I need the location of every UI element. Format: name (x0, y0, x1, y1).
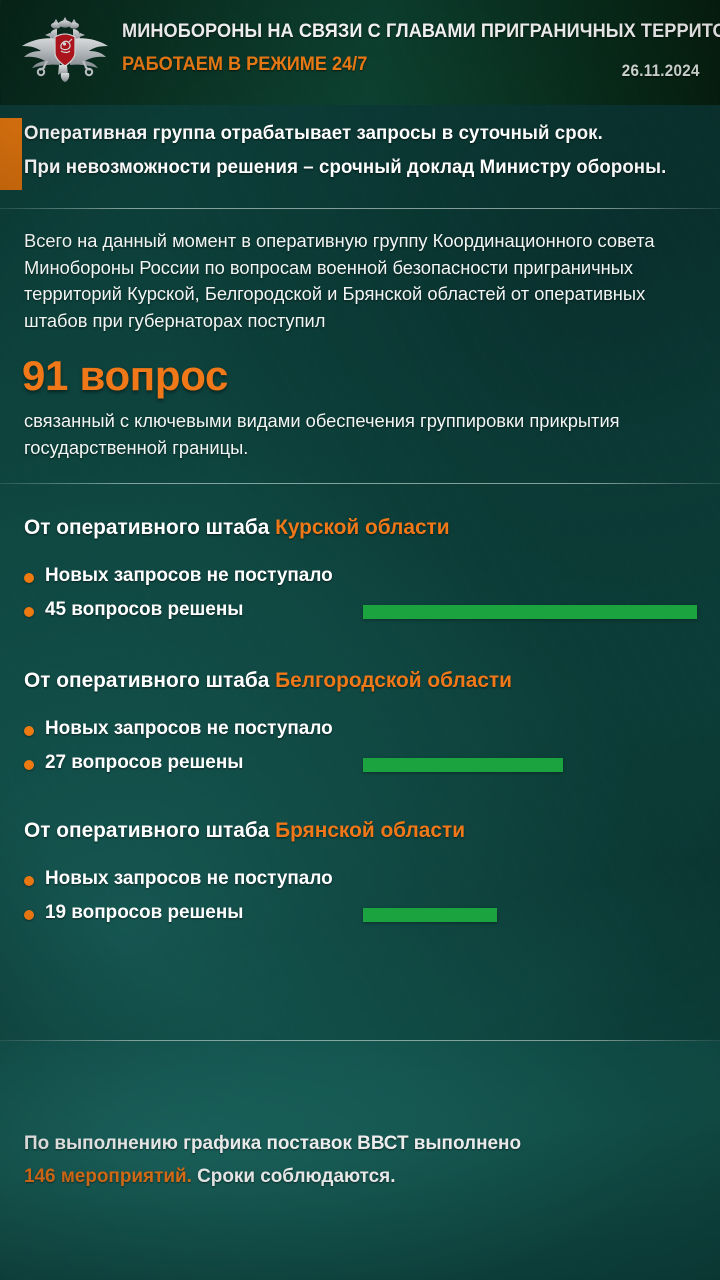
region-heading-bryansk: От оперативного штаба Брянской области (24, 818, 465, 843)
region-heading-prefix: От оперативного штаба (24, 818, 275, 842)
infographic-page: МИНОБОРОНЫ НА СВЯЗИ С ГЛАВАМИ ПРИГРАНИЧН… (0, 0, 720, 1280)
intro-paragraph: Всего на данный момент в оперативную гру… (24, 228, 690, 334)
region-item-label: 45 вопросов решены (45, 598, 243, 621)
region-name-belgorod: Белгородской области (275, 668, 512, 692)
region-heading-prefix: От оперативного штаба (24, 668, 275, 692)
statement-line-2: При невозможности решения – срочный докл… (24, 157, 666, 179)
divider-top (0, 208, 720, 209)
bullet-icon (24, 573, 34, 583)
divider-middle (0, 483, 720, 484)
intro-paragraph-block: Всего на данный момент в оперативную гру… (24, 228, 700, 334)
region-heading-prefix: От оперативного штаба (24, 515, 275, 539)
footer-line-1: По выполнению графика поставок ВВСТ выпо… (24, 1127, 680, 1160)
region-item-label: Новых запросов не поступало (45, 717, 333, 740)
statement-block: Оперативная группа отрабатывает запросы … (0, 105, 720, 208)
bullet-icon (24, 876, 34, 886)
region-heading-belgorod: От оперативного штаба Белгородской облас… (24, 668, 512, 693)
bullet-icon (24, 607, 34, 617)
progress-bar-fill-belgorod (363, 758, 563, 772)
intro-paragraph-block-2: связанный с ключевыми видами обеспечения… (24, 408, 700, 461)
page-header: МИНОБОРОНЫ НА СВЯЗИ С ГЛАВАМИ ПРИГРАНИЧН… (0, 0, 720, 105)
bullet-icon (24, 760, 34, 770)
footer-text-block: По выполнению графика поставок ВВСТ выпо… (24, 1127, 700, 1193)
progress-bar-track-bryansk (363, 908, 703, 922)
footer-highlight-count: 146 мероприятий. (24, 1165, 192, 1187)
total-questions-highlight: 91 вопрос (22, 352, 228, 400)
progress-bar-track-belgorod (363, 758, 703, 772)
bullet-icon (24, 910, 34, 920)
header-title: МИНОБОРОНЫ НА СВЯЗИ С ГЛАВАМИ ПРИГРАНИЧН… (122, 18, 559, 44)
header-subtitle: РАБОТАЕМ В РЕЖИМЕ 24/7 (122, 51, 559, 77)
orange-accent-bar (0, 118, 22, 190)
header-date: 26.11.2024 (622, 62, 700, 81)
bullet-icon (24, 726, 34, 736)
intro-paragraph-2: связанный с ключевыми видами обеспечения… (24, 408, 690, 461)
region-item-label: Новых запросов не поступало (45, 564, 333, 587)
statement-line-1: Оперативная группа отрабатывает запросы … (24, 123, 603, 145)
region-item-label: 27 вопросов решены (45, 751, 243, 774)
footer-line-2: 146 мероприятий. Сроки соблюдаются. (24, 1160, 680, 1193)
progress-bar-fill-kursk (363, 605, 697, 619)
russian-mod-eagle-emblem-icon (17, 15, 113, 89)
progress-bar-track-kursk (363, 605, 703, 619)
region-name-kursk: Курской области (275, 515, 449, 539)
region-item-label: Новых запросов не поступало (45, 867, 333, 890)
region-item-label: 19 вопросов решены (45, 901, 243, 924)
footer-line-2-rest: Сроки соблюдаются. (192, 1165, 396, 1187)
progress-bar-fill-bryansk (363, 908, 497, 922)
region-heading-kursk: От оперативного штаба Курской области (24, 515, 450, 540)
region-name-bryansk: Брянской области (275, 818, 465, 842)
header-text-group: МИНОБОРОНЫ НА СВЯЗИ С ГЛАВАМИ ПРИГРАНИЧН… (122, 18, 592, 77)
